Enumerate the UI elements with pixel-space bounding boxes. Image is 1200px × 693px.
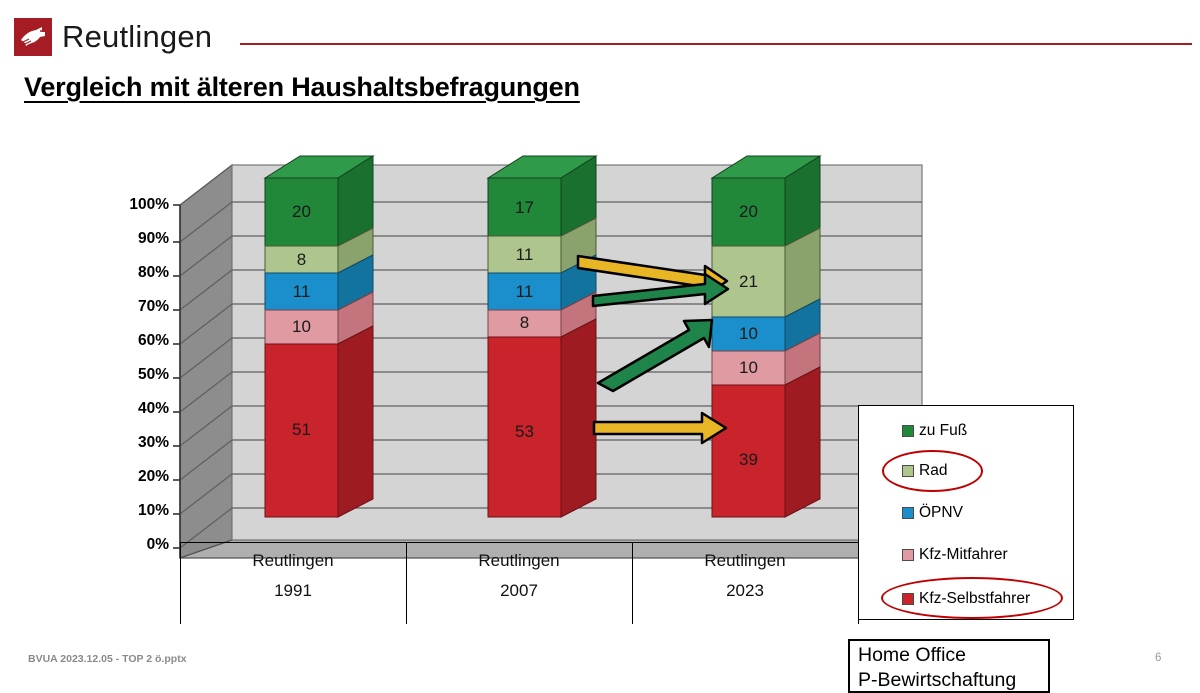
slide-header: Reutlingen xyxy=(0,0,1200,60)
category-axis-line xyxy=(180,542,860,543)
legend-label-zu-fuss: zu Fuß xyxy=(919,422,967,440)
reutlingen-coat-of-arms-icon xyxy=(14,18,52,56)
legend-item-oepnv[interactable]: ÖPNV xyxy=(902,504,963,522)
legend-item-kfz-mitfahrer[interactable]: Kfz-Mitfahrer xyxy=(902,546,1008,564)
callout-line-2: P-Bewirtschaftung xyxy=(858,668,1048,693)
highlight-ellipse-kfz-selbstfahrer xyxy=(881,577,1063,619)
chart-legend: zu Fuß Rad ÖPNV Kfz-Mitfahrer Kfz-Selbst… xyxy=(858,405,1074,620)
legend-item-zu-fuss[interactable]: zu Fuß xyxy=(902,422,967,440)
org-name: Reutlingen xyxy=(62,18,212,56)
legend-swatch-kfz-mitfahrer-icon xyxy=(902,549,914,561)
arrow-green-kfz-selbstfahrer xyxy=(598,320,712,391)
callout-line-1: Home Office xyxy=(858,643,1048,668)
callout-box: Home Office P-Bewirtschaftung xyxy=(848,639,1050,693)
category-label-1991: Reutlingen 1991 xyxy=(180,546,406,606)
legend-label-oepnv: ÖPNV xyxy=(919,504,963,522)
category-name-2023: Reutlingen xyxy=(704,551,785,570)
legend-label-kfz-mitfahrer: Kfz-Mitfahrer xyxy=(919,546,1008,564)
stacked-bar-chart: 100% 90% 80% 70% 60% 50% 40% 30% 20% 10%… xyxy=(0,150,1200,630)
category-year-2007: 2007 xyxy=(406,576,632,606)
header-divider xyxy=(240,43,1192,45)
category-label-2007: Reutlingen 2007 xyxy=(406,546,632,606)
category-label-2023: Reutlingen 2023 xyxy=(632,546,858,606)
legend-swatch-zu-fuss-icon xyxy=(902,425,914,437)
category-name-1991: Reutlingen xyxy=(252,551,333,570)
arrow-yellow-kfz-selbstfahrer xyxy=(594,413,726,443)
category-year-2023: 2023 xyxy=(632,576,858,606)
category-year-1991: 1991 xyxy=(180,576,406,606)
footer-filename: BVUA 2023.12.05 - TOP 2 ö.pptx xyxy=(28,653,187,665)
legend-swatch-oepnv-icon xyxy=(902,507,914,519)
category-name-2007: Reutlingen xyxy=(478,551,559,570)
page-title: Vergleich mit älteren Haushaltsbefragung… xyxy=(24,72,580,103)
footer-page-number: 6 xyxy=(1155,652,1161,664)
highlight-ellipse-rad xyxy=(882,450,983,492)
